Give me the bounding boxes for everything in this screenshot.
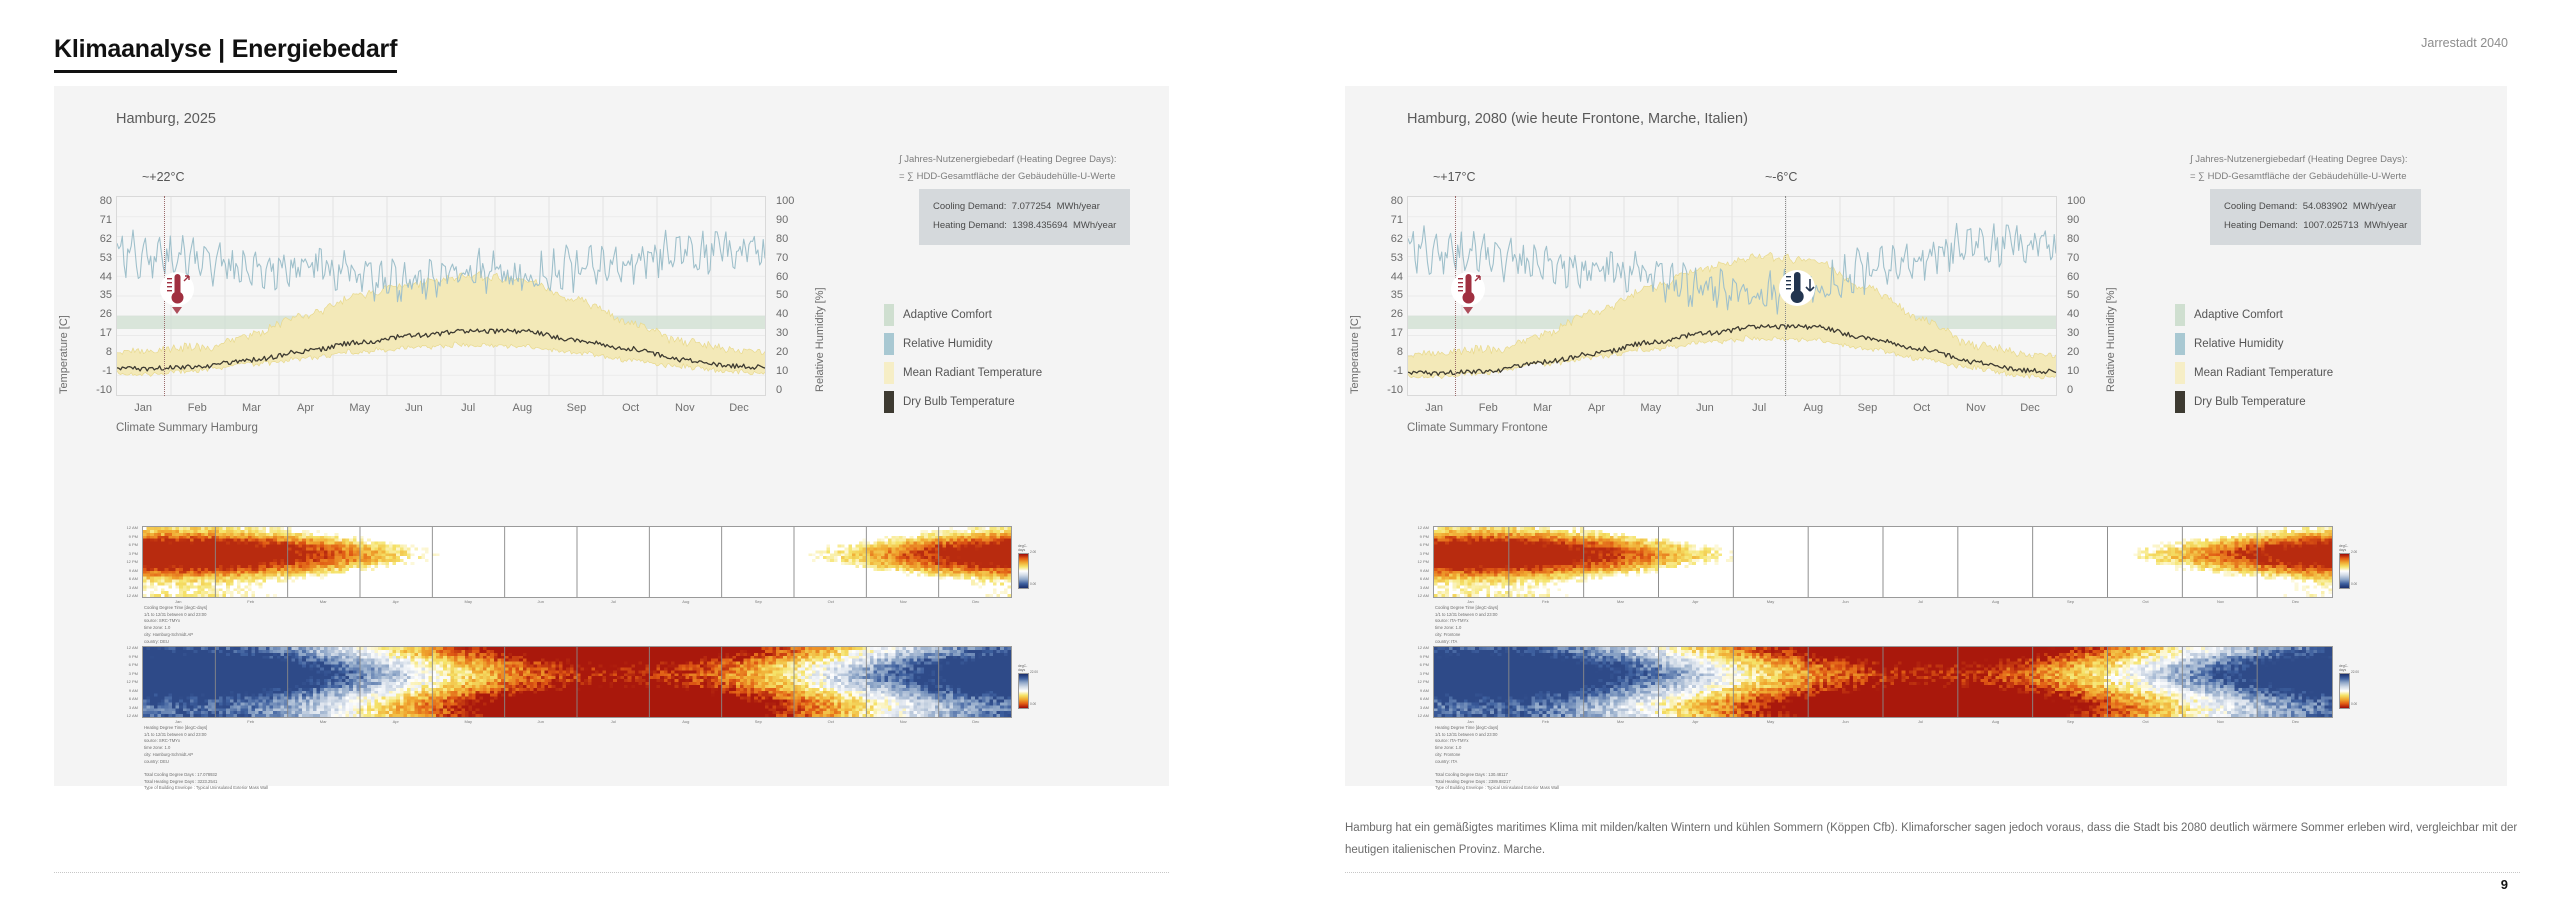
heatmap-hour-tick: 9 AM: [1407, 569, 1429, 573]
month-tick: Nov: [2183, 719, 2258, 724]
colorbar-ticks: 22.00 0.00: [1030, 670, 1038, 706]
heatmap-cooling-2080: 12 AM9 PM6 PM3 PM12 PM9 AM6 AM3 AM12 AM …: [1407, 526, 2477, 616]
legend-swatch: [884, 362, 894, 384]
y-axis-left-ticks: 80716253443526178-1-10: [78, 196, 112, 396]
month-tick: Feb: [1508, 599, 1583, 604]
heatmap-x-months: JanFebMarAprMayJunJulAugSepOctNovDec: [1433, 719, 2333, 724]
month-tick: Feb: [215, 719, 288, 724]
month-tick: Jun: [1808, 719, 1883, 724]
heatmap-canvas: [142, 526, 1012, 598]
heatmap-hour-tick: 6 AM: [116, 577, 138, 581]
heatmap-hour-tick: 3 PM: [1407, 552, 1429, 556]
month-tick: Jul: [1732, 402, 1786, 422]
cooling-demand-unit: MWh/year: [2353, 201, 2396, 212]
month-tick: Jul: [577, 599, 650, 604]
climate-chart-2080: Temperature [C] 80716253443526178-1-10 1…: [1345, 144, 2507, 444]
page-number: 9: [2501, 877, 2508, 892]
y-tick-left: 62: [78, 234, 112, 245]
heatmap-y-ticks: 12 AM9 PM6 PM3 PM12 PM9 AM6 AM3 AM12 AM: [116, 646, 138, 718]
month-tick: Sep: [722, 719, 795, 724]
heatmap-heating-2080: 12 AM9 PM6 PM3 PM12 PM9 AM6 AM3 AM12 AM …: [1407, 646, 2477, 766]
month-tick: Apr: [1570, 402, 1624, 422]
energy-demand-box: Cooling Demand: 54.083902 MWh/year Heati…: [2210, 189, 2421, 245]
month-tick: Nov: [658, 402, 712, 422]
y-axis-left-ticks: 80716253443526178-1-10: [1369, 196, 1403, 396]
heatmap-canvas: [1433, 526, 2333, 598]
y-tick-left: 53: [1369, 253, 1403, 264]
y-tick-left: 26: [78, 309, 112, 320]
y-axis-left-label: Temperature [C]: [58, 315, 70, 394]
month-tick: Jun: [505, 719, 578, 724]
heating-demand-unit: MWh/year: [1073, 220, 1116, 231]
month-tick: Dec: [940, 599, 1013, 604]
heatmap-colorbar: degC-days 22.00 0.00: [2339, 664, 2350, 709]
heatmap-hour-tick: 9 PM: [1407, 655, 1429, 659]
colorbar-min: 0.00: [2351, 702, 2359, 706]
heatmap-y-ticks: 12 AM9 PM6 PM3 PM12 PM9 AM6 AM3 AM12 AM: [1407, 646, 1429, 718]
annotation-temp-1: ~+17°C: [1433, 170, 1476, 184]
heatmap-hour-tick: 12 PM: [116, 680, 138, 684]
month-tick: Feb: [1508, 719, 1583, 724]
month-tick: May: [432, 599, 505, 604]
y-tick-left: 8: [1369, 347, 1403, 358]
y-tick-right: 30: [776, 328, 810, 339]
month-tick: Mar: [287, 599, 360, 604]
y-tick-left: 71: [1369, 215, 1403, 226]
legend-swatch: [884, 391, 894, 413]
heatmap-hour-tick: 12 AM: [1407, 526, 1429, 530]
month-tick: Mar: [287, 719, 360, 724]
plot-area: [1407, 196, 2057, 396]
y-tick-left: 8: [78, 347, 112, 358]
month-tick: Feb: [1461, 402, 1515, 422]
legend-label: Mean Radiant Temperature: [2194, 367, 2333, 379]
heatmap-y-ticks: 12 AM9 PM6 PM3 PM12 PM9 AM6 AM3 AM12 AM: [1407, 526, 1429, 598]
y-tick-right: 40: [2067, 309, 2101, 320]
y-tick-left: 62: [1369, 234, 1403, 245]
month-tick: Apr: [1658, 719, 1733, 724]
y-tick-right: 50: [2067, 290, 2101, 301]
month-tick: Jul: [1883, 599, 1958, 604]
thermometer-cold-icon: [1773, 266, 1825, 323]
y-tick-right: 60: [776, 272, 810, 283]
panel-hamburg-2025: Hamburg, 2025 Temperature [C] 8071625344…: [54, 86, 1169, 786]
month-tick: Nov: [2183, 599, 2258, 604]
heatmap-hour-tick: 6 PM: [116, 543, 138, 547]
month-tick: Mar: [1583, 599, 1658, 604]
heatmap-cooling-2025: 12 AM9 PM6 PM3 PM12 PM9 AM6 AM3 AM12 AM …: [116, 526, 1136, 616]
month-tick: Dec: [2258, 719, 2333, 724]
y-tick-left: -10: [1369, 385, 1403, 396]
slide-caption: Hamburg hat ein gemäßigtes maritimes Kli…: [1345, 818, 2520, 862]
heatmap-footer: Cooling Degree Time [degC-days] 1/1 to 1…: [144, 605, 207, 645]
heatmap-hour-tick: 6 PM: [116, 663, 138, 667]
heating-demand-row: Heating Demand: 1398.435694 MWh/year: [933, 217, 1116, 236]
y-tick-right: 100: [2067, 196, 2101, 207]
y-tick-left: -10: [78, 385, 112, 396]
legend-swatch: [884, 333, 894, 355]
colorbar-ticks: 2.00 0.00: [1030, 550, 1036, 586]
heatmap-hour-tick: 12 PM: [1407, 560, 1429, 564]
month-tick: Aug: [1786, 402, 1840, 422]
heatmap-hour-tick: 9 PM: [1407, 535, 1429, 539]
cooling-demand-label: Cooling Demand:: [2224, 201, 2297, 212]
heating-demand-label: Heating Demand:: [933, 220, 1007, 231]
month-tick: Feb: [170, 402, 224, 422]
cooling-demand-label: Cooling Demand:: [933, 201, 1006, 212]
month-tick: Oct: [795, 719, 868, 724]
month-tick: Jan: [116, 402, 170, 422]
month-tick: Sep: [722, 599, 795, 604]
y-tick-right: 0: [2067, 385, 2101, 396]
colorbar-min: 0.00: [1030, 702, 1038, 706]
heatmap-canvas: [1433, 646, 2333, 718]
legend-label: Dry Bulb Temperature: [903, 396, 1015, 408]
heatmap-colorbar: degC-days 2.00 0.00: [1018, 544, 1029, 589]
legend-swatch: [884, 304, 894, 326]
heatmap-hour-tick: 12 AM: [1407, 594, 1429, 598]
month-tick: Sep: [549, 402, 603, 422]
month-tick: Aug: [1958, 719, 2033, 724]
plot-area: [116, 196, 766, 396]
month-tick: Aug: [650, 599, 723, 604]
legend-label: Relative Humidity: [2194, 338, 2283, 350]
heatmap-heating-2025: 12 AM9 PM6 PM3 PM12 PM9 AM6 AM3 AM12 AM …: [116, 646, 1136, 766]
month-tick: Aug: [495, 402, 549, 422]
heatmap-hour-tick: 6 PM: [1407, 543, 1429, 547]
heatmap-hour-tick: 3 AM: [1407, 706, 1429, 710]
colorbar-max: 22.00: [2351, 670, 2359, 674]
y-tick-left: 35: [1369, 290, 1403, 301]
hdd-note: ∫ Jahres-Nutzenergiebedarf (Heating Degr…: [899, 152, 1117, 185]
hdd-note: ∫ Jahres-Nutzenergiebedarf (Heating Degr…: [2190, 152, 2408, 185]
y-tick-left: 80: [78, 196, 112, 207]
chart-legend: Adaptive ComfortRelative HumidityMean Ra…: [2175, 304, 2333, 420]
y-axis-right-ticks: 1009080706050403020100: [2067, 196, 2101, 396]
month-tick: Jan: [1433, 599, 1508, 604]
colorbar-title: degC-days: [2339, 664, 2350, 672]
hdd-note-line2: = ∑ HDD-Gesamtfläche der Gebäudehülle-U-…: [899, 169, 1117, 186]
month-tick: May: [1733, 599, 1808, 604]
y-tick-right: 60: [2067, 272, 2101, 283]
legend-swatch: [2175, 304, 2185, 326]
heatmap-hour-tick: 12 PM: [1407, 680, 1429, 684]
colorbar-gradient: [2339, 553, 2350, 589]
month-tick: Jun: [505, 599, 578, 604]
y-tick-right: 10: [776, 366, 810, 377]
month-tick: Aug: [650, 719, 723, 724]
month-tick: Apr: [360, 599, 433, 604]
y-tick-right: 50: [776, 290, 810, 301]
legend-item[interactable]: Relative Humidity: [884, 333, 1042, 355]
cooling-demand-value: 54.083902: [2303, 201, 2348, 212]
heating-demand-unit: MWh/year: [2364, 220, 2407, 231]
heatmap-hour-tick: 6 PM: [1407, 663, 1429, 667]
heatmap-footer: Heating Degree Time [degC-days] 1/1 to 1…: [1435, 725, 1559, 792]
hdd-note-line1: ∫ Jahres-Nutzenergiebedarf (Heating Degr…: [2190, 152, 2408, 169]
month-tick: Jul: [441, 402, 495, 422]
heatmap-hour-tick: 12 AM: [116, 646, 138, 650]
colorbar-max: 2.00: [1030, 550, 1036, 554]
y-tick-right: 100: [776, 196, 810, 207]
legend-item[interactable]: Adaptive Comfort: [884, 304, 1042, 326]
heatmap-hour-tick: 12 AM: [116, 714, 138, 718]
month-tick: Mar: [1583, 719, 1658, 724]
y-tick-left: 17: [78, 328, 112, 339]
y-tick-right: 10: [2067, 366, 2101, 377]
heating-demand-row: Heating Demand: 1007.025713 MWh/year: [2224, 217, 2407, 236]
y-axis-right-label: Relative Humidity [%]: [2105, 287, 2117, 392]
y-tick-right: 20: [2067, 347, 2101, 358]
colorbar-min: 0.00: [2351, 582, 2357, 586]
colorbar-gradient: [1018, 673, 1029, 709]
y-tick-right: 90: [776, 215, 810, 226]
heatmap-canvas: [142, 646, 1012, 718]
colorbar-title: degC-days: [1018, 544, 1029, 552]
legend-item[interactable]: Adaptive Comfort: [2175, 304, 2333, 326]
panel-hamburg-2080: Hamburg, 2080 (wie heute Frontone, March…: [1345, 86, 2507, 786]
y-tick-right: 40: [776, 309, 810, 320]
y-tick-right: 70: [2067, 253, 2101, 264]
month-tick: Jan: [1407, 402, 1461, 422]
y-tick-right: 90: [2067, 215, 2101, 226]
y-axis-right-label: Relative Humidity [%]: [814, 287, 826, 392]
month-tick: Sep: [2033, 599, 2108, 604]
heatmap-hour-tick: 12 AM: [1407, 646, 1429, 650]
annotation-temp-1: ~+22°C: [142, 170, 185, 184]
month-tick: Jul: [577, 719, 650, 724]
heatmap-hour-tick: 3 AM: [116, 586, 138, 590]
heating-demand-label: Heating Demand:: [2224, 220, 2298, 231]
cooling-demand-row: Cooling Demand: 54.083902 MWh/year: [2224, 198, 2407, 217]
colorbar-ticks: 2.00 0.00: [2351, 550, 2357, 586]
month-tick: Oct: [604, 402, 658, 422]
y-tick-left: 35: [78, 290, 112, 301]
y-tick-left: 53: [78, 253, 112, 264]
colorbar-title: degC-days: [2339, 544, 2350, 552]
heatmap-hour-tick: 9 AM: [116, 569, 138, 573]
month-tick: Jun: [1678, 402, 1732, 422]
month-tick: Dec: [2003, 402, 2057, 422]
heatmap-hour-tick: 12 AM: [116, 526, 138, 530]
heating-demand-value: 1007.025713: [2303, 220, 2358, 231]
footer-rule-left: [54, 872, 1169, 873]
month-tick: Nov: [867, 599, 940, 604]
legend-label: Adaptive Comfort: [903, 309, 992, 321]
heating-demand-value: 1398.435694: [1012, 220, 1067, 231]
heatmap-hour-tick: 9 PM: [116, 655, 138, 659]
colorbar-max: 22.00: [1030, 670, 1038, 674]
legend-item[interactable]: Dry Bulb Temperature: [2175, 391, 2333, 413]
month-tick: Jun: [1808, 599, 1883, 604]
legend-swatch: [2175, 391, 2185, 413]
climate-summary-label: Climate Summary Hamburg: [116, 422, 258, 434]
climate-summary-label: Climate Summary Frontone: [1407, 422, 1548, 434]
legend-item[interactable]: Mean Radiant Temperature: [884, 362, 1042, 384]
heatmap-hour-tick: 9 AM: [1407, 689, 1429, 693]
heatmap-hour-tick: 12 AM: [1407, 714, 1429, 718]
y-tick-right: 20: [776, 347, 810, 358]
month-tick: Dec: [940, 719, 1013, 724]
legend-label: Mean Radiant Temperature: [903, 367, 1042, 379]
heatmap-hour-tick: 9 PM: [116, 535, 138, 539]
hdd-note-line2: = ∑ HDD-Gesamtfläche der Gebäudehülle-U-…: [2190, 169, 2408, 186]
colorbar-min: 0.00: [1030, 582, 1036, 586]
heatmap-hour-tick: 3 AM: [116, 706, 138, 710]
heatmap-hour-tick: 9 AM: [116, 689, 138, 693]
y-tick-right: 80: [2067, 234, 2101, 245]
legend-item[interactable]: Dry Bulb Temperature: [884, 391, 1042, 413]
page-title: Klimaanalyse | Energiebedarf: [54, 35, 397, 73]
colorbar-title: degC-days: [1018, 664, 1029, 672]
month-tick: Oct: [795, 599, 868, 604]
month-tick: Oct: [2108, 719, 2183, 724]
y-tick-left: -1: [78, 366, 112, 377]
footer-rule-right: [1345, 872, 2520, 873]
month-tick: Sep: [1840, 402, 1894, 422]
annotation-temp-2: ~-6°C: [1765, 170, 1797, 184]
legend-swatch: [2175, 333, 2185, 355]
y-tick-right: 0: [776, 385, 810, 396]
panel-title: Hamburg, 2025: [116, 111, 216, 127]
heatmap-hour-tick: 3 PM: [1407, 672, 1429, 676]
month-tick: May: [432, 719, 505, 724]
y-tick-right: 80: [776, 234, 810, 245]
month-tick: Feb: [215, 599, 288, 604]
month-tick: Oct: [1895, 402, 1949, 422]
y-tick-left: 26: [1369, 309, 1403, 320]
hdd-note-line1: ∫ Jahres-Nutzenergiebedarf (Heating Degr…: [899, 152, 1117, 169]
heatmap-hour-tick: 12 AM: [116, 594, 138, 598]
deck-name: Jarrestadt 2040: [2421, 36, 2508, 50]
colorbar-max: 2.00: [2351, 550, 2357, 554]
heatmap-hour-tick: 6 AM: [1407, 697, 1429, 701]
panel-title: Hamburg, 2080 (wie heute Frontone, March…: [1407, 111, 1748, 127]
month-tick: Jul: [1883, 719, 1958, 724]
cooling-demand-unit: MWh/year: [1057, 201, 1100, 212]
thermometer-hot-icon: [154, 269, 200, 322]
colorbar-gradient: [1018, 553, 1029, 589]
energy-demand-box: Cooling Demand: 7.077254 MWh/year Heatin…: [919, 189, 1130, 245]
month-tick: Apr: [360, 719, 433, 724]
month-tick: May: [333, 402, 387, 422]
month-tick: Mar: [1515, 402, 1569, 422]
month-tick: Nov: [1949, 402, 2003, 422]
slide-page: Klimaanalyse | Energiebedarf Jarrestadt …: [0, 0, 2560, 905]
legend-swatch: [2175, 362, 2185, 384]
legend-item[interactable]: Mean Radiant Temperature: [2175, 362, 2333, 384]
y-tick-left: -1: [1369, 366, 1403, 377]
month-tick: Apr: [279, 402, 333, 422]
y-axis-right-ticks: 1009080706050403020100: [776, 196, 810, 396]
heatmap-hour-tick: 12 PM: [116, 560, 138, 564]
month-tick: Jun: [387, 402, 441, 422]
month-tick: May: [1733, 719, 1808, 724]
month-tick: Dec: [2258, 599, 2333, 604]
legend-item[interactable]: Relative Humidity: [2175, 333, 2333, 355]
colorbar-gradient: [2339, 673, 2350, 709]
heatmap-footer: Cooling Degree Time [degC-days] 1/1 to 1…: [1435, 605, 1498, 645]
heatmap-footer: Heating Degree Time [degC-days] 1/1 to 1…: [144, 725, 268, 792]
x-axis-months: JanFebMarAprMayJunJulAugSepOctNovDec: [116, 402, 766, 422]
chart-legend: Adaptive ComfortRelative HumidityMean Ra…: [884, 304, 1042, 420]
y-tick-left: 80: [1369, 196, 1403, 207]
month-tick: Sep: [2033, 719, 2108, 724]
y-axis-left-label: Temperature [C]: [1349, 315, 1361, 394]
month-tick: Jan: [142, 599, 215, 604]
y-tick-right: 70: [776, 253, 810, 264]
month-tick: Jan: [1433, 719, 1508, 724]
heatmap-x-months: JanFebMarAprMayJunJulAugSepOctNovDec: [142, 719, 1012, 724]
month-tick: Jan: [142, 719, 215, 724]
legend-label: Relative Humidity: [903, 338, 992, 350]
month-tick: May: [1624, 402, 1678, 422]
heatmap-x-months: JanFebMarAprMayJunJulAugSepOctNovDec: [1433, 599, 2333, 604]
heatmap-hour-tick: 6 AM: [1407, 577, 1429, 581]
legend-label: Adaptive Comfort: [2194, 309, 2283, 321]
y-tick-left: 44: [1369, 272, 1403, 283]
thermometer-hot-icon: [1445, 269, 1491, 322]
y-tick-left: 44: [78, 272, 112, 283]
month-tick: Aug: [1958, 599, 2033, 604]
y-tick-left: 17: [1369, 328, 1403, 339]
month-tick: Nov: [867, 719, 940, 724]
heatmap-y-ticks: 12 AM9 PM6 PM3 PM12 PM9 AM6 AM3 AM12 AM: [116, 526, 138, 598]
heatmap-colorbar: degC-days 22.00 0.00: [1018, 664, 1029, 709]
heatmap-hour-tick: 3 AM: [1407, 586, 1429, 590]
x-axis-months: JanFebMarAprMayJunJulAugSepOctNovDec: [1407, 402, 2057, 422]
colorbar-ticks: 22.00 0.00: [2351, 670, 2359, 706]
heatmap-hour-tick: 3 PM: [116, 552, 138, 556]
y-tick-right: 30: [2067, 328, 2101, 339]
heatmap-x-months: JanFebMarAprMayJunJulAugSepOctNovDec: [142, 599, 1012, 604]
heatmap-colorbar: degC-days 2.00 0.00: [2339, 544, 2350, 589]
month-tick: Dec: [712, 402, 766, 422]
y-tick-left: 71: [78, 215, 112, 226]
heatmap-hour-tick: 3 PM: [116, 672, 138, 676]
legend-label: Dry Bulb Temperature: [2194, 396, 2306, 408]
month-tick: Mar: [224, 402, 278, 422]
cooling-demand-value: 7.077254: [1012, 201, 1052, 212]
cooling-demand-row: Cooling Demand: 7.077254 MWh/year: [933, 198, 1116, 217]
month-tick: Apr: [1658, 599, 1733, 604]
heatmap-hour-tick: 6 AM: [116, 697, 138, 701]
climate-chart-2025: Temperature [C] 80716253443526178-1-10 1…: [54, 144, 1169, 444]
month-tick: Oct: [2108, 599, 2183, 604]
